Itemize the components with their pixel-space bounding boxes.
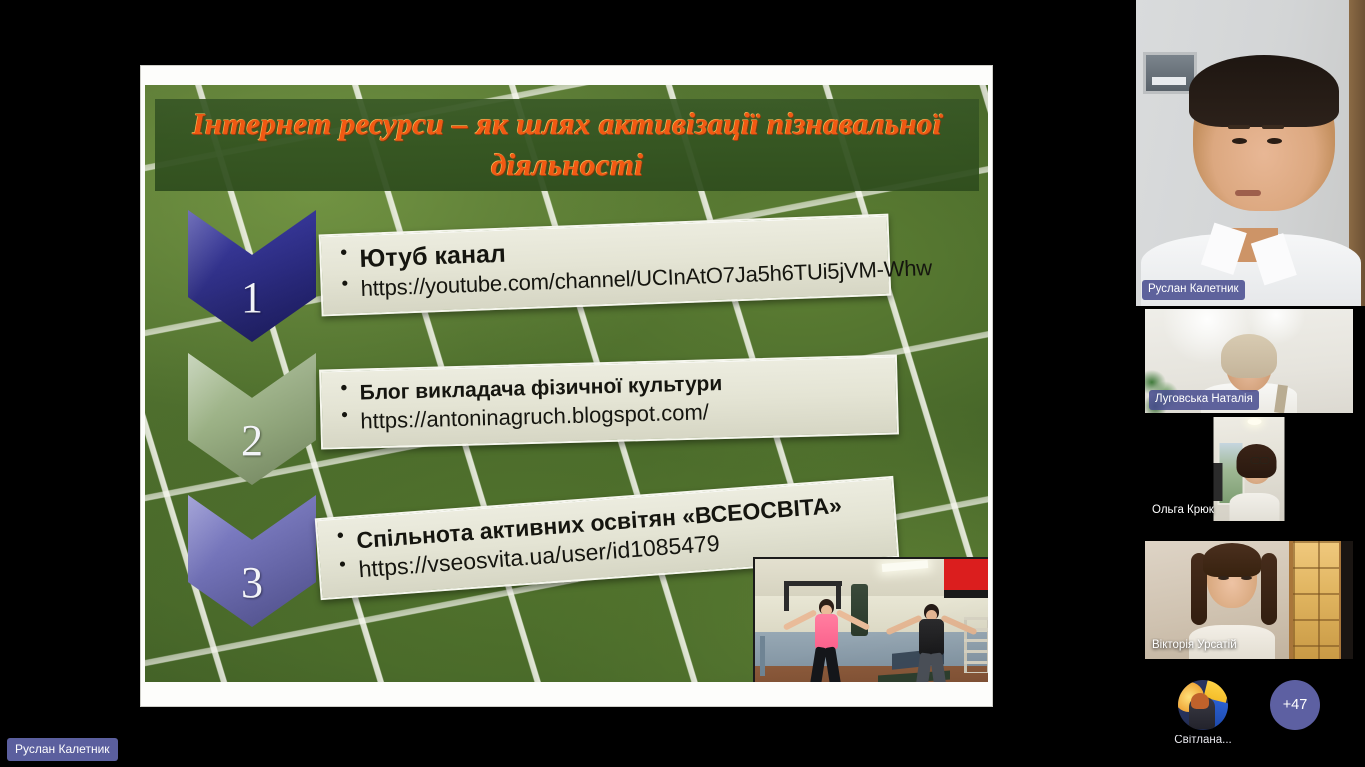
avatar[interactable] [1178, 680, 1228, 730]
chevron-step-3-number: 3 [241, 561, 263, 627]
tile3-portrait-video [1214, 417, 1285, 521]
tile1-hair [1189, 55, 1339, 127]
chevron-step-2: 2 [188, 353, 316, 485]
participant-name-luhovska: Луговська Наталія [1149, 390, 1259, 411]
tile1-eyebrow-left [1228, 125, 1250, 129]
chevron-step-1: 1 [188, 210, 316, 342]
bar-post-left [784, 581, 789, 611]
presenter-name-badge: Руслан Калетник [7, 738, 118, 761]
participant-tile-luhovska[interactable]: Луговська Наталія [1145, 309, 1353, 413]
overflow-count-badge[interactable]: +47 [1270, 680, 1320, 730]
wooden-door-icon [1289, 541, 1343, 659]
participant-tile-olha[interactable]: Ольга Крюк [1145, 417, 1353, 521]
tile4-hair-right [1261, 553, 1277, 625]
tile2-hair [1221, 334, 1277, 378]
slide-background-photo: Інтернет ресурси – як шлях активізації п… [145, 85, 988, 682]
avatar-person-hair [1191, 693, 1209, 709]
tile3-torso [1230, 493, 1280, 521]
participant-name-olha: Ольга Крюк [1149, 503, 1217, 519]
chevron-step-2-number: 2 [241, 419, 263, 485]
participant-tile-ruslan[interactable]: Руслан Калетник [1136, 0, 1365, 306]
participant-tile-viktoriia[interactable]: Вікторія Урсатій [1145, 541, 1353, 659]
participant-filmstrip[interactable]: Руслан Калетник Луговська Наталія [1135, 0, 1365, 767]
avatar-item-svitlana[interactable]: Світлана... [1170, 680, 1236, 747]
presentation-page: Інтернет ресурси – як шлях активізації п… [141, 66, 992, 706]
slide-title: Інтернет ресурси – як шлях активізації п… [177, 104, 957, 186]
shared-screen-stage[interactable]: Інтернет ресурси – як шлях активізації п… [0, 0, 1135, 767]
exerciser-pink-shirt [802, 599, 858, 682]
ceiling-lamp-icon [1248, 418, 1262, 425]
tile1-eye-right [1267, 138, 1282, 144]
eyeglasses-right-lens-icon [1260, 457, 1270, 464]
callout-plate-2: Блог викладача фізичної культури https:/… [319, 354, 899, 449]
video-conference-window: Інтернет ресурси – як шлях активізації п… [0, 0, 1365, 767]
overflow-participants-button[interactable]: +47 [1262, 680, 1328, 730]
slide-title-band: Інтернет ресурси – як шлях активізації п… [155, 99, 979, 191]
pullup-bar [784, 581, 842, 586]
tile4-hair-top [1203, 543, 1261, 577]
chevron-step-1-number: 1 [241, 276, 263, 342]
wall-stripe [760, 636, 765, 676]
tile1-eye-left [1232, 138, 1247, 144]
exercise-rep-counter: 27 [890, 679, 909, 682]
callout-plate-1: Ютуб канал https://youtube.com/channel/U… [319, 214, 892, 317]
avatar-overflow-row[interactable]: Світлана... +47 [1145, 680, 1353, 760]
tile3-foreground-object [1214, 463, 1223, 501]
video-channel-badge [944, 559, 988, 590]
embedded-exercise-video[interactable]: 27 [753, 557, 988, 682]
avatar-name-svitlana: Світлана... [1174, 735, 1231, 747]
tile1-eyebrow-right [1262, 125, 1284, 129]
tile4-dark-edge [1341, 541, 1353, 659]
chevron-step-3: 3 [188, 495, 316, 627]
participant-name-ruslan: Руслан Калетник [1142, 280, 1245, 301]
video-channel-strip [944, 590, 988, 598]
tile1-mouth [1235, 190, 1261, 196]
exerciser-black-shirt [907, 604, 963, 682]
participant-name-viktoriia: Вікторія Урсатій [1149, 638, 1240, 654]
